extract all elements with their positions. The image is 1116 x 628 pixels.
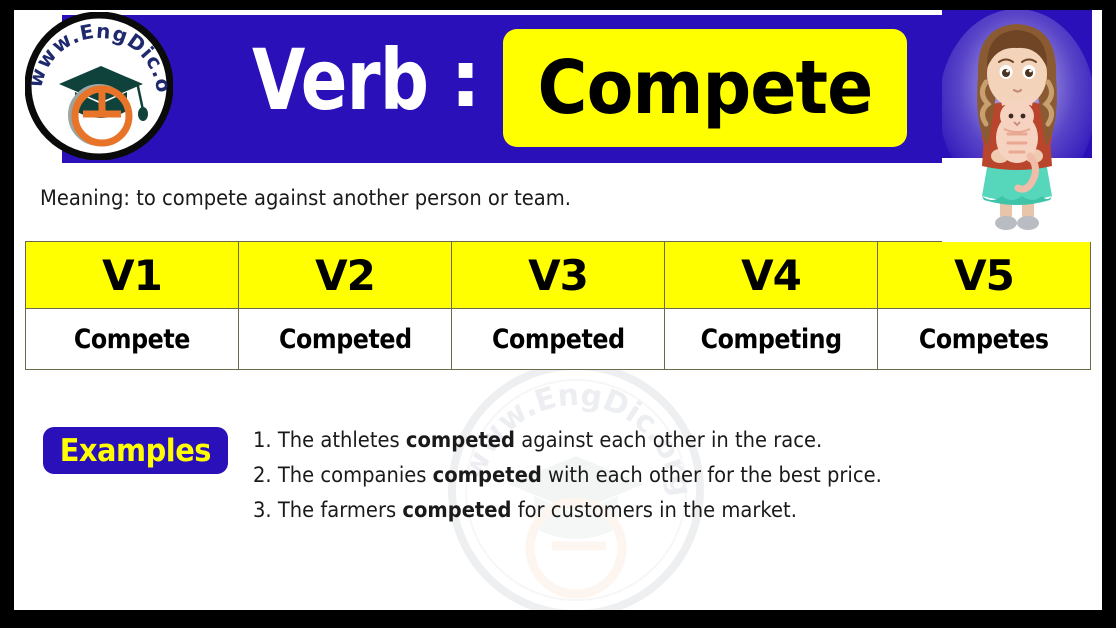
girl-holding-cat-illustration <box>942 10 1092 242</box>
title-separator: : <box>450 26 481 134</box>
verb-word-text: Compete <box>538 48 873 128</box>
verb-form-v4: Competing <box>700 324 841 355</box>
examples-badge: Examples <box>43 427 228 474</box>
example-bold-1: competed <box>406 428 515 452</box>
example-number-1: 1. <box>253 428 272 452</box>
meaning-text: Meaning: to compete against another pers… <box>40 186 571 210</box>
table-cell-v3: Competed <box>452 309 665 370</box>
table-header-v5: V5 <box>878 242 1091 309</box>
verb-forms-infographic: www.EngDic.org www.EngDic.org <box>0 0 1116 628</box>
content-card: www.EngDic.org www.EngDic.org <box>14 10 1102 610</box>
example-bold-2: competed <box>433 463 542 487</box>
verb-form-v2: Competed <box>279 324 412 355</box>
verb-form-v3: Competed <box>492 324 625 355</box>
examples-badge-label: Examples <box>60 433 211 469</box>
example-number-2: 2. <box>253 463 272 487</box>
verb-form-v5: Competes <box>919 324 1049 355</box>
example-after-2: with each other for the best price. <box>542 463 882 487</box>
example-bold-3: competed <box>402 498 511 522</box>
examples-list: 1. The athletes competed against each ot… <box>253 423 1083 528</box>
example-before-1: The athletes <box>272 428 406 452</box>
verb-word-pill: Compete <box>503 29 907 147</box>
example-after-3: for customers in the market. <box>512 498 797 522</box>
example-after-1: against each other in the race. <box>515 428 822 452</box>
table-cell-v5: Competes <box>878 309 1091 370</box>
engdic-logo: www.EngDic.org <box>25 12 173 160</box>
example-before-3: The farmers <box>272 498 403 522</box>
example-item-3: 3. The farmers competed for customers in… <box>253 493 1025 528</box>
example-item-2: 2. The companies competed with each othe… <box>253 458 1025 493</box>
table-header-v4: V4 <box>665 242 878 309</box>
verb-form-v1: Compete <box>74 324 190 355</box>
page-title-verb: Verb <box>252 26 428 134</box>
verb-forms-table: V1 V2 V3 V4 V5 Compete Competed Competed… <box>25 241 1091 370</box>
example-item-1: 1. The athletes competed against each ot… <box>253 423 1025 458</box>
table-row: Compete Competed Competed Competing Comp… <box>26 309 1091 370</box>
table-cell-v1: Compete <box>26 309 239 370</box>
table-header-v3: V3 <box>452 242 665 309</box>
table-cell-v4: Competing <box>665 309 878 370</box>
table-header-v2: V2 <box>239 242 452 309</box>
table-cell-v2: Competed <box>239 309 452 370</box>
table-header-v1: V1 <box>26 242 239 309</box>
example-before-2: The companies <box>272 463 433 487</box>
table-header-row: V1 V2 V3 V4 V5 <box>26 242 1091 309</box>
example-number-3: 3. <box>253 498 272 522</box>
